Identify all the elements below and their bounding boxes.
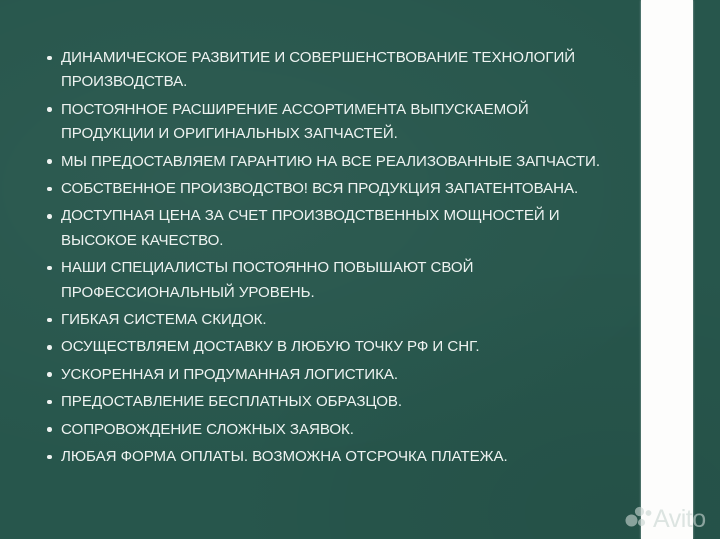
list-item-text: НАШИ СПЕЦИАЛИСТЫ ПОСТОЯННО ПОВЫШАЮТ СВОЙ… bbox=[61, 256, 616, 305]
list-item: МЫ ПРЕДОСТАВЛЯЕМ ГАРАНТИЮ НА ВСЕ РЕАЛИЗО… bbox=[44, 150, 616, 174]
bullet-dot-icon bbox=[47, 107, 52, 112]
bullet-dot-icon bbox=[47, 455, 52, 460]
list-item: ПРЕДОСТАВЛЕНИЕ БЕСПЛАТНЫХ ОБРАЗЦОВ. bbox=[44, 390, 616, 414]
bullet-dot-icon bbox=[47, 187, 52, 192]
list-item: ДОСТУПНАЯ ЦЕНА ЗА СЧЕТ ПРОИЗВОДСТВЕННЫХ … bbox=[44, 204, 616, 253]
list-item-text: ПРЕДОСТАВЛЕНИЕ БЕСПЛАТНЫХ ОБРАЗЦОВ. bbox=[61, 390, 616, 414]
bullet-dot-icon bbox=[47, 318, 52, 323]
bullet-dot-icon bbox=[47, 56, 52, 61]
list-item-text: ОСУЩЕСТВЛЯЕМ ДОСТАВКУ В ЛЮБУЮ ТОЧКУ РФ И… bbox=[61, 335, 616, 359]
bullet-dot-icon bbox=[47, 266, 52, 271]
list-item-text: ПОСТОЯННОЕ РАСШИРЕНИЕ АССОРТИМЕНТА ВЫПУС… bbox=[61, 98, 616, 147]
list-item-text: ДИНАМИЧЕСКОЕ РАЗВИТИЕ И СОВЕРШЕНСТВОВАНИ… bbox=[61, 46, 616, 95]
list-item-text: ЛЮБАЯ ФОРМА ОПЛАТЫ. ВОЗМОЖНА ОТСРОЧКА ПЛ… bbox=[61, 445, 616, 469]
list-item: ГИБКАЯ СИСТЕМА СКИДОК. bbox=[44, 308, 616, 332]
list-item: СОПРОВОЖДЕНИЕ СЛОЖНЫХ ЗАЯВОК. bbox=[44, 418, 616, 442]
list-item-text: ГИБКАЯ СИСТЕМА СКИДОК. bbox=[61, 308, 616, 332]
list-item-text: СОПРОВОЖДЕНИЕ СЛОЖНЫХ ЗАЯВОК. bbox=[61, 418, 616, 442]
presentation-slide: ДИНАМИЧЕСКОЕ РАЗВИТИЕ И СОВЕРШЕНСТВОВАНИ… bbox=[0, 0, 720, 539]
list-item: ДИНАМИЧЕСКОЕ РАЗВИТИЕ И СОВЕРШЕНСТВОВАНИ… bbox=[44, 46, 616, 95]
list-item-text: МЫ ПРЕДОСТАВЛЯЕМ ГАРАНТИЮ НА ВСЕ РЕАЛИЗО… bbox=[61, 150, 616, 174]
list-item: ЛЮБАЯ ФОРМА ОПЛАТЫ. ВОЗМОЖНА ОТСРОЧКА ПЛ… bbox=[44, 445, 616, 469]
list-item: СОБСТВЕННОЕ ПРОИЗВОДСТВО! ВСЯ ПРОДУКЦИЯ … bbox=[44, 177, 616, 201]
list-item-text: ДОСТУПНАЯ ЦЕНА ЗА СЧЕТ ПРОИЗВОДСТВЕННЫХ … bbox=[61, 204, 616, 253]
list-item: УСКОРЕННАЯ И ПРОДУМАННАЯ ЛОГИСТИКА. bbox=[44, 363, 616, 387]
list-item: НАШИ СПЕЦИАЛИСТЫ ПОСТОЯННО ПОВЫШАЮТ СВОЙ… bbox=[44, 256, 616, 305]
bullet-dot-icon bbox=[47, 372, 52, 377]
white-vertical-stripe bbox=[641, 0, 693, 539]
advantages-bullet-list: ДИНАМИЧЕСКОЕ РАЗВИТИЕ И СОВЕРШЕНСТВОВАНИ… bbox=[44, 46, 616, 470]
bullet-dot-icon bbox=[47, 159, 52, 164]
bullet-dot-icon bbox=[47, 427, 52, 432]
bullet-dot-icon bbox=[47, 400, 52, 405]
bullet-dot-icon bbox=[47, 214, 52, 219]
bullet-dot-icon bbox=[47, 345, 52, 350]
list-item-text: УСКОРЕННАЯ И ПРОДУМАННАЯ ЛОГИСТИКА. bbox=[61, 363, 616, 387]
list-item: ОСУЩЕСТВЛЯЕМ ДОСТАВКУ В ЛЮБУЮ ТОЧКУ РФ И… bbox=[44, 335, 616, 359]
list-item: ПОСТОЯННОЕ РАСШИРЕНИЕ АССОРТИМЕНТА ВЫПУС… bbox=[44, 98, 616, 147]
list-item-text: СОБСТВЕННОЕ ПРОИЗВОДСТВО! ВСЯ ПРОДУКЦИЯ … bbox=[61, 177, 616, 201]
